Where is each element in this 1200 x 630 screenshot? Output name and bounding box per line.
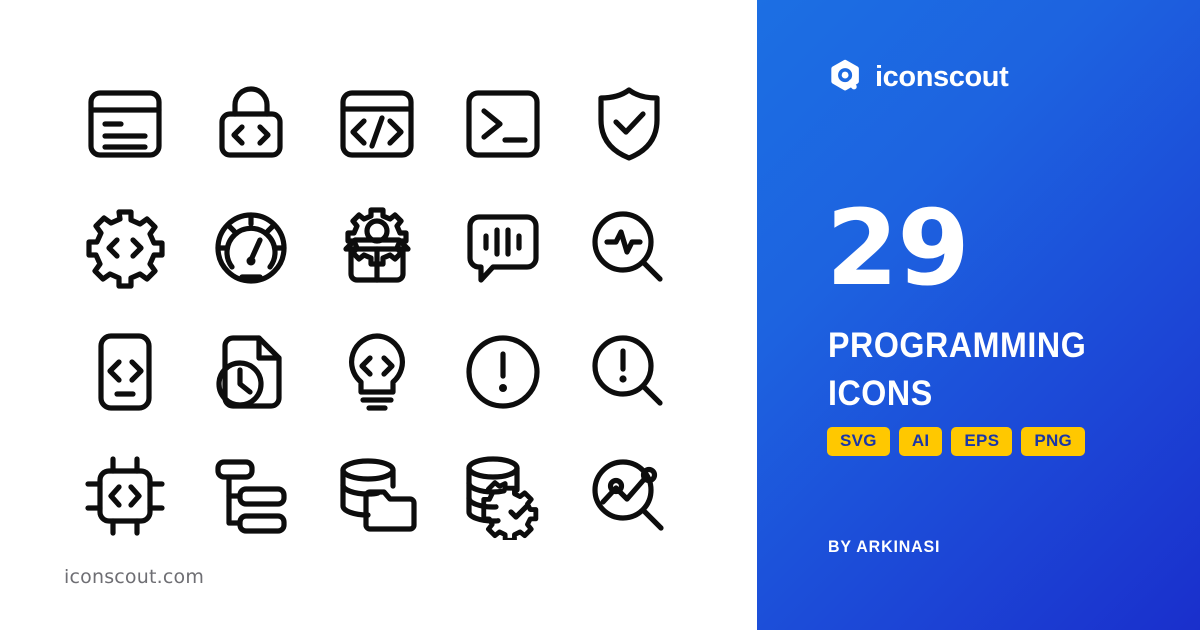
browser-code-icon[interactable] (314, 62, 440, 186)
file-clock-icon[interactable] (188, 310, 314, 434)
database-folder-icon[interactable] (314, 434, 440, 558)
box-gear-icon[interactable] (314, 186, 440, 310)
lock-code-icon[interactable] (188, 62, 314, 186)
pack-title: Programming Icons (828, 322, 1159, 418)
alert-circle-icon[interactable] (440, 310, 566, 434)
search-alert-icon[interactable] (566, 310, 692, 434)
database-gear-check-icon[interactable] (440, 434, 566, 558)
format-badge-svg[interactable]: SVG (827, 427, 890, 456)
icon-count: 29 (826, 196, 969, 300)
terminal-prompt-icon[interactable] (440, 62, 566, 186)
info-panel: iconscout 29 Programming Icons SVG AI EP… (757, 0, 1200, 630)
shield-check-icon[interactable] (566, 62, 692, 186)
speedometer-icon[interactable] (188, 186, 314, 310)
chip-code-icon[interactable] (62, 434, 188, 558)
author-credit[interactable]: By Arkinasi (828, 537, 940, 557)
icon-pack-preview: iconscout.com iconscout 29 Programming I… (0, 0, 1200, 630)
brand-lockup[interactable]: iconscout (828, 58, 1008, 96)
format-badge-eps[interactable]: EPS (951, 427, 1012, 456)
icon-grid (62, 62, 692, 558)
brand-name: iconscout (875, 61, 1008, 94)
sitemap-icon[interactable] (188, 434, 314, 558)
chat-bars-icon[interactable] (440, 186, 566, 310)
format-badge-list: SVG AI EPS PNG (827, 427, 1085, 456)
bulb-code-icon[interactable] (314, 310, 440, 434)
mobile-code-icon[interactable] (62, 310, 188, 434)
gear-code-icon[interactable] (62, 186, 188, 310)
browser-text-lines-icon[interactable] (62, 62, 188, 186)
iconscout-hexagon-logo-icon (828, 58, 866, 96)
search-pulse-icon[interactable] (566, 186, 692, 310)
icon-showcase-panel: iconscout.com (0, 0, 757, 630)
format-badge-png[interactable]: PNG (1021, 427, 1085, 456)
watermark-url: iconscout.com (64, 566, 204, 588)
search-analytics-icon[interactable] (566, 434, 692, 558)
format-badge-ai[interactable]: AI (899, 427, 943, 456)
